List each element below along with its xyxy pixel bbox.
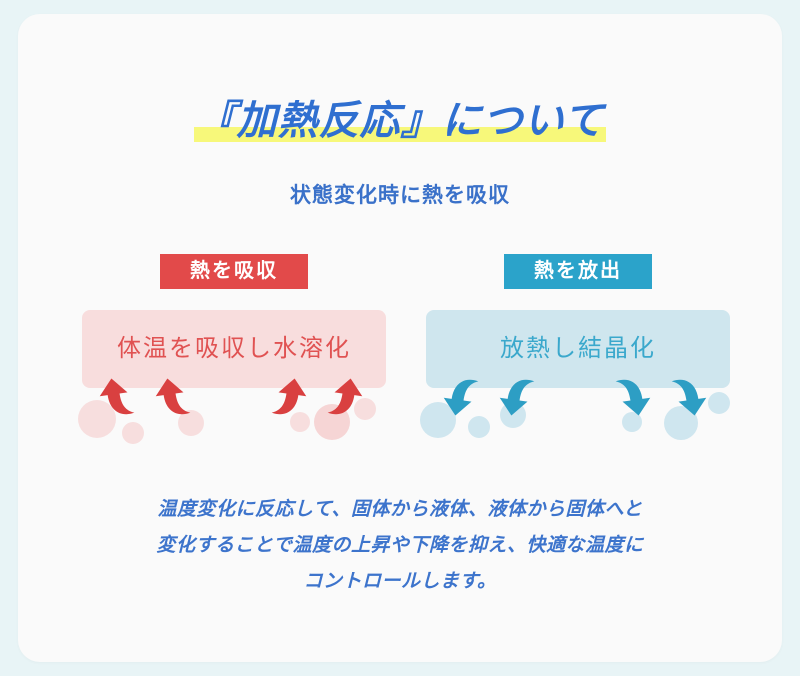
arrow-down-icon xyxy=(612,374,656,420)
arrow-up-icon xyxy=(94,374,138,420)
release-effects xyxy=(426,374,730,444)
badge-absorb-heat: 熱を吸収 xyxy=(160,254,308,289)
description-line-2: 変化することで温度の上昇や下降を抑え、快適な温度に xyxy=(18,528,782,564)
content-card: 『加熱反応』について 状態変化時に熱を吸収 熱を吸収 熱を放出 体温を吸収し水溶… xyxy=(18,14,782,662)
absorb-effects xyxy=(82,374,386,444)
description-line-1: 温度変化に反応して、固体から液体、液体から固体へと xyxy=(18,492,782,528)
arrow-up-icon xyxy=(324,374,368,420)
arrow-up-icon xyxy=(268,374,312,420)
badge-release-heat: 熱を放出 xyxy=(504,254,652,289)
arrow-down-icon xyxy=(438,374,482,420)
description-block: 温度変化に反応して、固体から液体、液体から固体へと 変化することで温度の上昇や下… xyxy=(18,492,782,600)
bubble-decoration xyxy=(122,422,144,444)
page-title-text: 『加熱反応』について xyxy=(196,99,605,143)
page-subtitle: 状態変化時に熱を吸収 xyxy=(18,179,782,209)
arrow-down-icon xyxy=(668,374,712,420)
arrow-up-icon xyxy=(150,374,194,420)
arrow-down-icon xyxy=(494,374,538,420)
description-line-3: コントロールします。 xyxy=(18,564,782,600)
page-title: 『加熱反応』について xyxy=(18,96,782,146)
